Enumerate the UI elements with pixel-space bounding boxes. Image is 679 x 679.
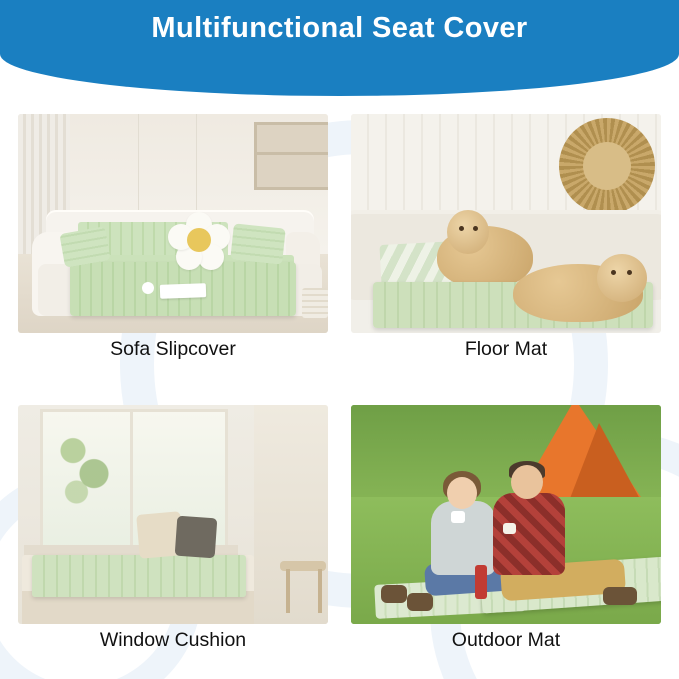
stool-leg — [318, 569, 322, 613]
photo-floor-mat — [351, 114, 661, 333]
caption-outdoor-mat: Outdoor Mat — [351, 629, 661, 652]
product-infographic: Multifunctional Seat Cover — [0, 0, 679, 679]
caption-floor-mat: Floor Mat — [351, 338, 661, 361]
feature-grid: Sofa Slipcover — [18, 114, 661, 662]
photo-window-cushion — [18, 405, 328, 624]
woman-head — [447, 477, 477, 509]
man-boot — [603, 587, 637, 605]
feature-tile-outdoor-mat: Outdoor Mat — [351, 405, 661, 662]
stool-leg — [286, 569, 290, 613]
tray-on-seat — [160, 283, 206, 299]
boot-right — [407, 593, 433, 611]
daisy-pillow — [168, 212, 230, 268]
dog-head-upper — [447, 210, 489, 254]
green-quilted-window-cushion — [32, 555, 246, 597]
woman-cup — [451, 511, 465, 523]
page-title: Multifunctional Seat Cover — [0, 12, 679, 45]
grey-pillow — [175, 516, 218, 559]
red-thermos — [475, 565, 487, 599]
photo-sofa-slipcover — [18, 114, 328, 333]
woven-basket — [302, 288, 328, 318]
feature-tile-floor-mat: Floor Mat — [351, 114, 661, 371]
sunburst-center — [583, 142, 631, 190]
man-head — [511, 465, 543, 499]
caption-window-cushion: Window Cushion — [18, 629, 328, 652]
photo-outdoor-mat — [351, 405, 661, 624]
foliage-outside-window — [52, 423, 122, 515]
window-mullion — [130, 409, 133, 549]
feature-tile-window-cushion: Window Cushion — [18, 405, 328, 662]
cup-on-seat — [142, 282, 154, 294]
interior-wall — [254, 405, 328, 624]
dog-head-lower — [597, 254, 647, 302]
boot-left — [381, 585, 407, 603]
man-torso-plaid-shirt — [493, 493, 565, 575]
wall-shelf — [254, 122, 328, 190]
feature-tile-sofa-slipcover: Sofa Slipcover — [18, 114, 328, 371]
man-cup — [503, 523, 516, 534]
throw-cushion-right — [230, 223, 285, 264]
caption-sofa-slipcover: Sofa Slipcover — [18, 338, 328, 361]
wall-shelf-divider — [254, 152, 328, 155]
header-banner: Multifunctional Seat Cover — [0, 0, 679, 96]
